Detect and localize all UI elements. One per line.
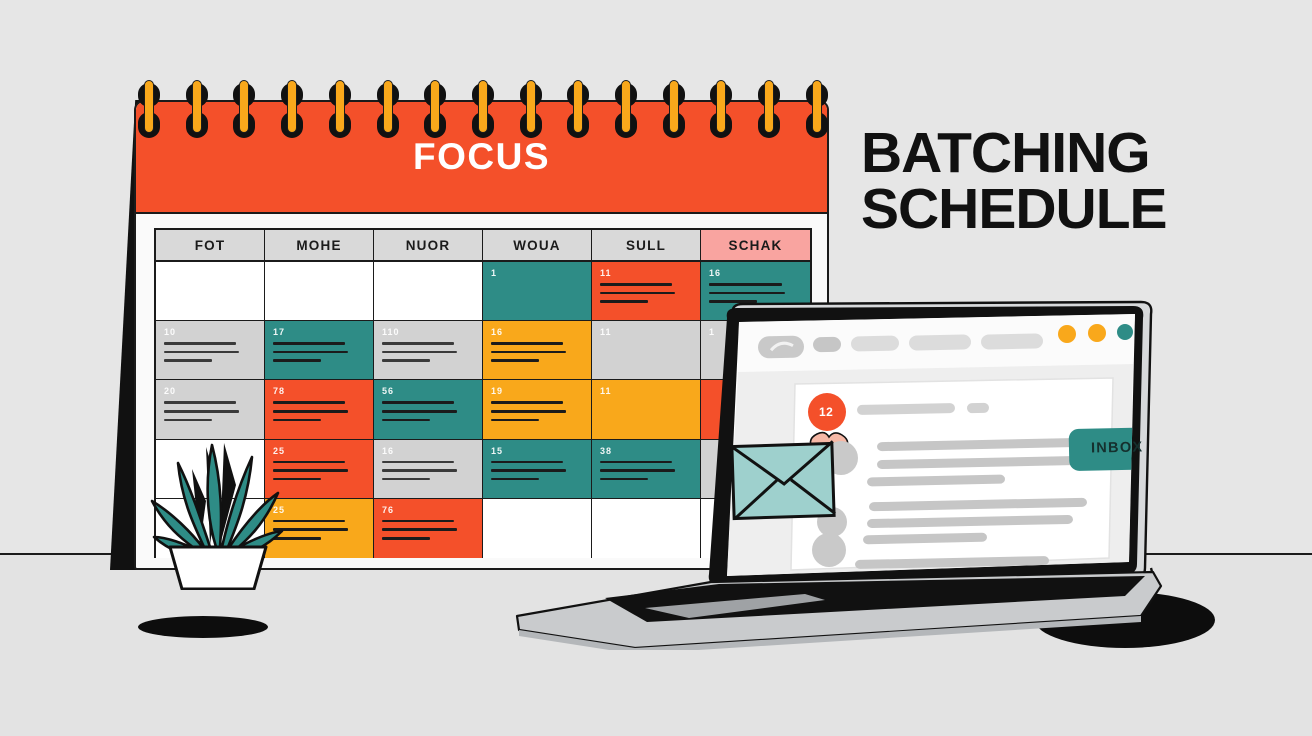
- calendar-event-line: [382, 419, 430, 422]
- calendar-day-number: 56: [382, 386, 474, 397]
- calendar-event-line: [382, 351, 457, 354]
- calendar-event-line: [164, 342, 236, 345]
- calendar-event-line: [164, 419, 212, 422]
- calendar-day-number: 10: [164, 327, 256, 338]
- laptop: INBOX 12: [505, 300, 1165, 650]
- calendar-day-number: 76: [382, 505, 474, 516]
- calendar-event-line: [382, 469, 457, 472]
- potted-plant: [148, 425, 288, 590]
- page-title: BATCHING SCHEDULE: [861, 126, 1281, 238]
- calendar-day-cell[interactable]: [374, 262, 483, 320]
- browser-tab-pill-2: [851, 335, 899, 351]
- calendar-day-cell[interactable]: [265, 262, 374, 320]
- calendar-day-cell[interactable]: 16: [374, 440, 483, 498]
- calendar-event-line: [600, 283, 672, 286]
- calendar-day-header-sull[interactable]: SULL: [592, 230, 701, 260]
- calendar-event-lines: [382, 342, 474, 362]
- calendar-day-header-schak[interactable]: SCHAK: [701, 230, 810, 260]
- calendar-day-header-fot[interactable]: FOT: [156, 230, 265, 260]
- unread-count-badge: [808, 393, 846, 431]
- calendar-event-line: [273, 359, 321, 362]
- calendar-event-lines: [164, 342, 256, 362]
- calendar-event-line: [382, 537, 430, 540]
- browser-tab-pill-3: [909, 334, 971, 350]
- page-title-line-2: SCHEDULE: [861, 182, 1281, 238]
- calendar-day-number: [382, 268, 474, 279]
- calendar-event-line: [273, 342, 345, 345]
- potted-agave-plant-icon: [148, 425, 288, 590]
- calendar-event-line: [382, 342, 454, 345]
- calendar-event-line: [382, 520, 454, 523]
- calendar-event-line: [382, 461, 454, 464]
- calendar-event-lines: [382, 401, 474, 421]
- calendar-event-line: [164, 410, 239, 413]
- calendar-event-line: [382, 359, 430, 362]
- inbox-meta-tag: [967, 403, 989, 413]
- calendar-event-lines: [273, 342, 365, 362]
- calendar-day-cell[interactable]: 17: [265, 321, 374, 379]
- calendar-event-line: [273, 351, 348, 354]
- calendar-day-number: 17: [273, 327, 365, 338]
- calendar-day-number: [273, 268, 365, 279]
- calendar-event-lines: [382, 520, 474, 540]
- illustration-scene: BATCHING SCHEDULE FOCUS FOTMOHENUORWOUAS…: [0, 0, 1312, 736]
- calendar-event-line: [382, 401, 454, 404]
- envelope-icon: [732, 441, 835, 518]
- calendar-event-lines: [273, 401, 365, 421]
- calendar-header-band: FOCUS: [136, 102, 827, 214]
- status-dot-1: [1058, 325, 1076, 343]
- calendar-day-cell[interactable]: 56: [374, 380, 483, 438]
- calendar-day-number: 110: [382, 327, 474, 338]
- calendar-event-line: [382, 528, 457, 531]
- calendar-event-line: [164, 401, 236, 404]
- browser-tab-pill-1: [813, 337, 841, 353]
- calendar-event-line: [382, 410, 457, 413]
- calendar-event-line: [382, 478, 430, 481]
- calendar-event-line: [273, 401, 345, 404]
- status-dot-3: [1117, 324, 1133, 340]
- calendar-event-line: [709, 283, 782, 286]
- calendar-day-number: 11: [600, 268, 692, 279]
- calendar-day-header-mohe[interactable]: MOHE: [265, 230, 374, 260]
- plant-pot-shadow: [138, 616, 268, 638]
- calendar-event-line: [709, 292, 785, 295]
- inbox-subject-line: [857, 403, 955, 415]
- calendar-day-cell[interactable]: 10: [156, 321, 265, 379]
- inbox-badge: [1069, 427, 1165, 471]
- calendar-day-number: 1: [491, 268, 583, 279]
- page-title-line-1: BATCHING: [861, 121, 1150, 185]
- calendar-title: FOCUS: [413, 136, 550, 178]
- status-dot-2: [1088, 324, 1106, 342]
- calendar-event-line: [164, 351, 239, 354]
- calendar-day-number: 78: [273, 386, 365, 397]
- calendar-event-line: [600, 292, 675, 295]
- calendar-day-number: [164, 268, 256, 279]
- calendar-day-number: 16: [382, 446, 474, 457]
- calendar-event-line: [273, 419, 321, 422]
- back-arrow-icon: [758, 336, 804, 359]
- calendar-day-cell[interactable]: 76: [374, 499, 483, 558]
- avatar: [812, 533, 846, 567]
- calendar-event-line: [273, 410, 348, 413]
- calendar-day-number: 16: [709, 268, 802, 279]
- calendar-event-lines: [164, 401, 256, 421]
- calendar-day-cell[interactable]: 110: [374, 321, 483, 379]
- laptop-illustration: [505, 300, 1165, 650]
- calendar-event-lines: [382, 461, 474, 481]
- calendar-day-header-nuor[interactable]: NUOR: [374, 230, 483, 260]
- calendar-event-line: [164, 359, 212, 362]
- calendar-day-cell[interactable]: [156, 262, 265, 320]
- browser-tab-pill-4: [981, 333, 1043, 349]
- calendar-day-header-woua[interactable]: WOUA: [483, 230, 592, 260]
- calendar-day-header-row: FOTMOHENUORWOUASULLSCHAK: [156, 230, 810, 262]
- calendar-day-number: 20: [164, 386, 256, 397]
